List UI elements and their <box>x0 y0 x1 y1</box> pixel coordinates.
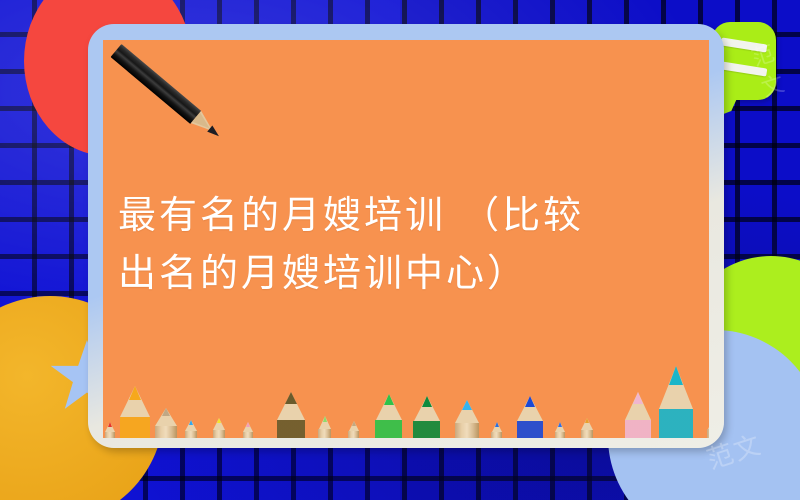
colored-pencil-barrel <box>155 426 177 438</box>
colored-pencil-nib <box>525 396 535 407</box>
colored-pencil-barrel <box>185 431 197 438</box>
colored-pencil-nib <box>129 386 141 400</box>
colored-pencil-nib <box>462 400 472 410</box>
colored-pencil <box>413 396 440 438</box>
colored-pencil-barrel <box>120 417 150 438</box>
colored-pencil-nib <box>285 392 297 404</box>
colored-pencil <box>120 386 150 438</box>
colored-pencil <box>659 366 693 438</box>
colored-pencil-nib <box>633 392 643 404</box>
colored-pencil-barrel <box>413 421 440 438</box>
colored-pencil-nib <box>246 422 250 427</box>
colored-pencil-barrel <box>213 430 225 438</box>
colored-pencil <box>707 416 709 438</box>
colored-pencil-barrel <box>105 432 115 438</box>
title-card-image: 最有名的月嫂培训 （比较 出名的月嫂培训中心） 范文 范文 <box>0 0 800 500</box>
colored-pencil-barrel <box>555 432 565 438</box>
speech-bubble-line <box>721 61 768 76</box>
speech-bubble-line <box>721 37 768 52</box>
colored-pencil-nib <box>558 422 562 427</box>
colored-pencil-barrel <box>625 420 651 438</box>
colored-pencil <box>491 422 502 438</box>
colored-pencil-barrel <box>318 429 331 438</box>
colored-pencil-barrel <box>277 420 305 438</box>
card-title: 最有名的月嫂培训 （比较 出名的月嫂培训中心） <box>118 186 698 302</box>
colored-pencil-barrel <box>375 420 402 438</box>
colored-pencil-nib <box>162 408 170 416</box>
colored-pencil <box>243 422 253 438</box>
colored-pencil-barrel <box>707 429 709 438</box>
colored-pencil-row <box>103 368 709 438</box>
colored-pencil-nib <box>217 418 221 423</box>
colored-pencil <box>105 422 115 438</box>
colored-pencil-nib <box>384 394 394 405</box>
colored-pencil-nib <box>323 416 327 422</box>
colored-pencil-barrel <box>455 423 479 438</box>
card-title-line-1: 最有名的月嫂培训 （比较 <box>118 186 698 244</box>
colored-pencil <box>318 416 331 438</box>
colored-pencil <box>581 418 593 438</box>
colored-pencil-nib <box>669 366 683 385</box>
colored-pencil-barrel <box>348 431 359 438</box>
colored-pencil-nib <box>108 422 112 427</box>
colored-pencil <box>277 392 305 438</box>
colored-pencil <box>155 408 177 438</box>
colored-pencil-barrel <box>581 430 593 438</box>
card-title-line-2: 出名的月嫂培训中心） <box>118 244 698 302</box>
colored-pencil-barrel <box>491 432 502 438</box>
colored-pencil-nib <box>352 421 356 426</box>
colored-pencil <box>213 418 225 438</box>
colored-pencil-barrel <box>659 409 693 438</box>
colored-pencil-wood-cone <box>708 416 710 429</box>
colored-pencil-barrel <box>243 432 253 438</box>
colored-pencil-barrel <box>517 421 543 438</box>
colored-pencil <box>455 400 479 438</box>
colored-pencil <box>375 394 402 438</box>
colored-pencil <box>517 396 543 438</box>
colored-pencil-nib <box>422 396 432 407</box>
colored-pencil <box>185 420 197 438</box>
colored-pencil-nib <box>189 420 193 425</box>
colored-pencil <box>348 421 359 438</box>
colored-pencil <box>555 422 565 438</box>
colored-pencil-nib <box>495 422 499 427</box>
colored-pencil <box>625 392 651 438</box>
colored-pencil-nib <box>585 418 589 423</box>
